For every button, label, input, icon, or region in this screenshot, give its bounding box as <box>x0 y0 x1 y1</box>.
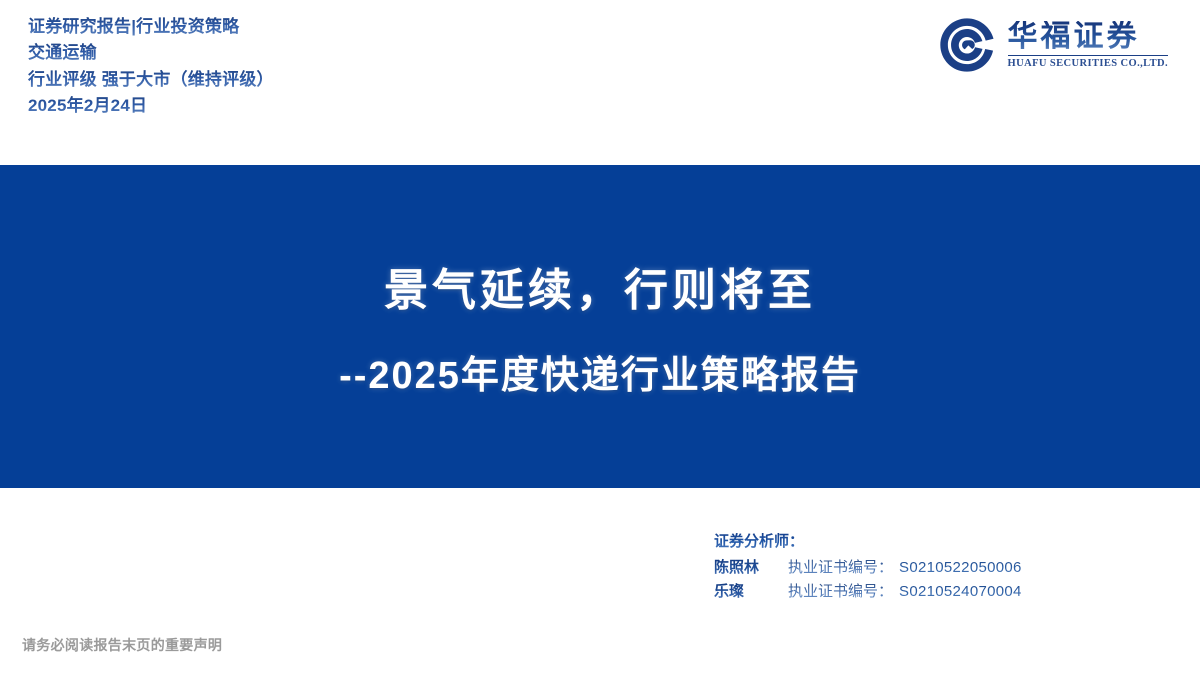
analyst-heading: 证券分析师： <box>714 531 1022 553</box>
report-cover-page: 证券研究报告|行业投资策略 交通运输 行业评级 强于大市（维持评级） 2025年… <box>0 0 1200 675</box>
header: 证券研究报告|行业投资策略 交通运输 行业评级 强于大市（维持评级） 2025年… <box>0 0 1200 165</box>
logo-name-en: HUAFU SECURITIES CO.,LTD. <box>1008 58 1168 69</box>
logo-divider <box>1008 55 1168 56</box>
analyst-license-number: S0210524070004 <box>899 581 1022 603</box>
logo-name-cn: 华福证券 <box>1008 21 1168 53</box>
report-title: 景气延续，行则将至 <box>384 254 816 318</box>
report-type-label: 证券研究报告|行业投资策略 <box>28 14 274 40</box>
title-band: 景气延续，行则将至 --2025年度快递行业策略报告 <box>0 165 1200 488</box>
analyst-name: 陈照林 <box>714 557 788 579</box>
analyst-license-label: 执业证书编号： <box>788 557 893 579</box>
publish-date-label: 2025年2月24日 <box>28 93 274 119</box>
analyst-row: 陈照林 执业证书编号： S0210522050006 <box>714 557 1022 579</box>
analyst-name: 乐璨 <box>714 581 788 603</box>
logo-text-block: 华福证券 HUAFU SECURITIES CO.,LTD. <box>1008 21 1168 69</box>
analyst-license-label: 执业证书编号： <box>788 581 893 603</box>
report-subtitle: --2025年度快递行业策略报告 <box>339 344 861 399</box>
sector-label: 交通运输 <box>28 40 274 66</box>
title-band-content: 景气延续，行则将至 --2025年度快递行业策略报告 <box>0 165 1200 488</box>
huafu-spiral-icon <box>938 16 996 74</box>
industry-rating-label: 行业评级 强于大市（维持评级） <box>28 67 274 93</box>
footer-disclaimer: 请务必阅读报告末页的重要声明 <box>22 635 222 655</box>
header-meta-block: 证券研究报告|行业投资策略 交通运输 行业评级 强于大市（维持评级） 2025年… <box>28 14 274 119</box>
analyst-license-number: S0210522050006 <box>899 557 1022 579</box>
analyst-block: 证券分析师： 陈照林 执业证书编号： S0210522050006 乐璨 执业证… <box>714 531 1022 602</box>
analyst-row: 乐璨 执业证书编号： S0210524070004 <box>714 581 1022 603</box>
company-logo: 华福证券 HUAFU SECURITIES CO.,LTD. <box>938 16 1168 74</box>
